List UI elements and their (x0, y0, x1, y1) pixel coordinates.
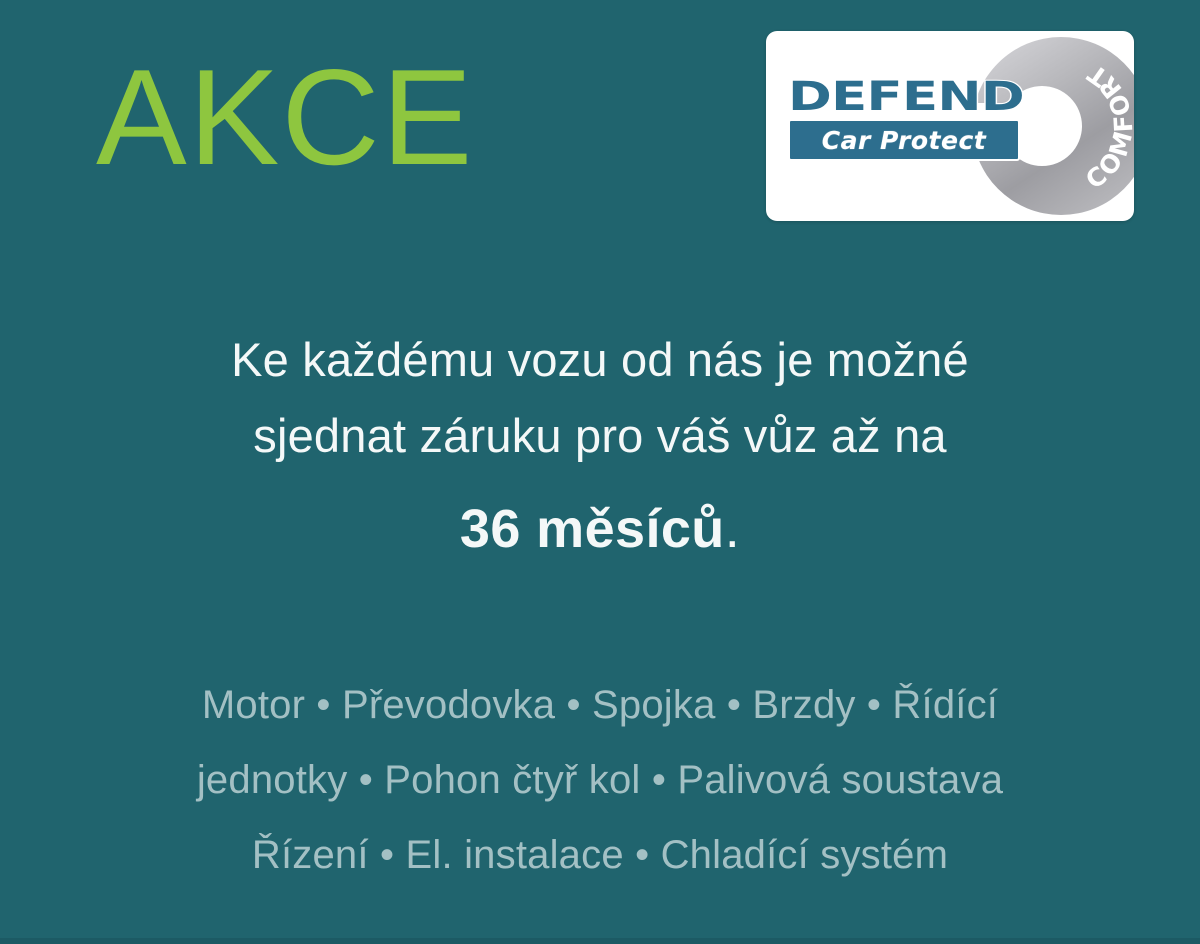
car-protect-tagline-bar: Car Protect (788, 119, 1020, 161)
covered-parts-list: Motor • Převodovka • Spojka • Brzdy • Ří… (60, 668, 1140, 893)
car-protect-tagline-label: Car Protect (822, 126, 986, 155)
promo-slide: AKCE (0, 0, 1200, 944)
promo-duration-period: . (725, 499, 740, 559)
page-title: AKCE (96, 46, 474, 189)
promo-body-line-2: sjednat záruku pro váš vůz až na (0, 398, 1200, 474)
covered-parts-line-2: jednotky • Pohon čtyř kol • Palivová sou… (60, 743, 1140, 818)
promo-duration-value: 36 měsíců (460, 499, 725, 559)
promo-duration-highlight: 36 měsíců. (0, 474, 1200, 584)
promo-body-line-1: Ke každému vozu od nás je možné (0, 322, 1200, 398)
promo-body-copy: Ke každému vozu od nás je možné sjednat … (0, 322, 1200, 584)
svg-text:DEFEND: DEFEND (788, 77, 1024, 117)
covered-parts-line-3: Řízení • El. instalace • Chladící systém (60, 818, 1140, 893)
covered-parts-line-1: Motor • Převodovka • Spojka • Brzdy • Ří… (60, 668, 1140, 743)
defend-wordmark: DEFEND (788, 77, 1024, 117)
defend-car-protect-logo: COMFORT DEFEND Car Protect (766, 31, 1134, 221)
